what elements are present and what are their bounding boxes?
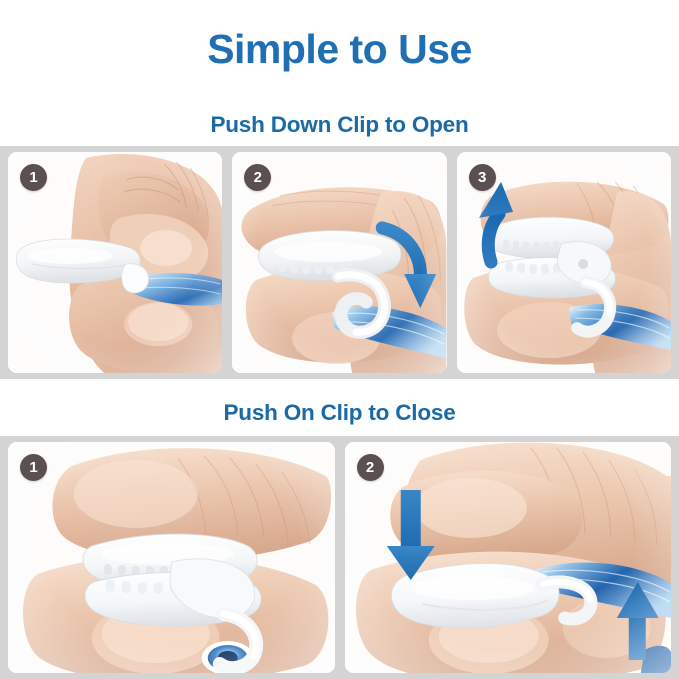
step-badge: 1 — [20, 454, 47, 481]
step-panel-open-1[interactable]: 1 — [8, 152, 222, 373]
step-photo-close-2 — [345, 442, 672, 673]
step-photo-close-1 — [8, 442, 335, 673]
step-panel-close-1[interactable]: 1 — [8, 442, 335, 673]
page-title: Simple to Use — [0, 26, 679, 73]
step-panel-open-3[interactable]: 3 — [457, 152, 671, 373]
step-badge: 3 — [469, 164, 496, 191]
step-panel-open-2[interactable]: 2 — [232, 152, 446, 373]
step-badge: 2 — [357, 454, 384, 481]
section-heading-open: Push Down Clip to Open — [0, 112, 679, 138]
step-panel-close-2[interactable]: 2 — [345, 442, 672, 673]
section-heading-close: Push On Clip to Close — [0, 400, 679, 426]
step-row-open: 1 — [8, 152, 671, 373]
instruction-graphic: Simple to Use Push Down Clip to Open 1 — [0, 0, 679, 679]
step-row-close: 1 — [8, 442, 671, 673]
step-badge: 1 — [20, 164, 47, 191]
